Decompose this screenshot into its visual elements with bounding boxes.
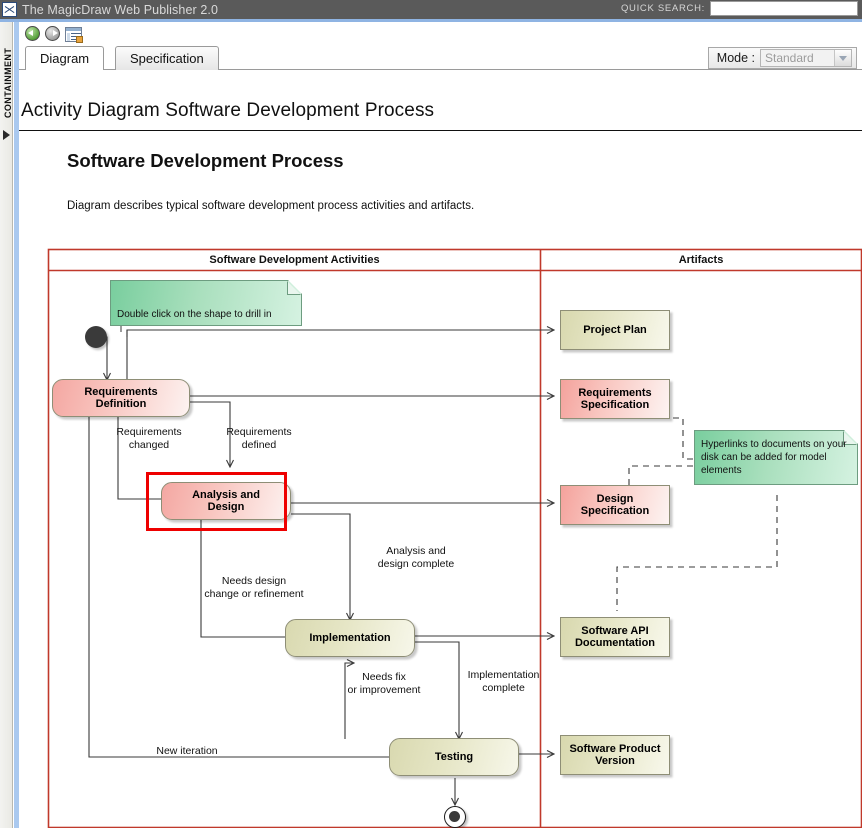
implementation-node[interactable]: Implementation	[285, 619, 415, 657]
design-specification-object[interactable]: Design Specification	[560, 485, 670, 525]
navigation-toolbar	[19, 22, 862, 46]
tab-diagram-label: Diagram	[40, 51, 89, 66]
containment-label: CONTAINMENT	[0, 22, 13, 142]
software-api-documentation-label: Software API Documentation	[575, 625, 655, 650]
mode-control: Mode : Standard	[708, 47, 857, 69]
triangle-right-icon[interactable]	[3, 130, 10, 140]
software-product-version-label: Software Product Version	[569, 743, 660, 768]
requirements-definition-label: Requirements Definition	[84, 386, 157, 411]
page-title-rule	[19, 130, 862, 131]
edge-label-implementation-complete: Implementation complete	[441, 669, 566, 694]
implementation-label: Implementation	[309, 632, 390, 645]
edge-label-needs-design-change: Needs design change or refinement	[174, 575, 334, 600]
project-plan-label: Project Plan	[583, 324, 647, 337]
lane-header-artifacts: Artifacts	[541, 254, 861, 266]
mode-select[interactable]: Standard	[760, 49, 852, 67]
tab-specification[interactable]: Specification	[115, 46, 219, 70]
window-title-bar: The MagicDraw Web Publisher 2.0 QUICK SE…	[0, 0, 862, 19]
edge-label-requirements-defined: Requirements defined	[199, 426, 319, 451]
testing-node[interactable]: Testing	[389, 738, 519, 776]
document-description: Diagram describes typical software devel…	[67, 200, 474, 212]
content-pane: Diagram Specification Mode : Standard Ac…	[19, 22, 862, 828]
software-product-version-object[interactable]: Software Product Version	[560, 735, 670, 775]
edge-label-requirements-changed: Requirements changed	[89, 426, 209, 451]
design-specification-label: Design Specification	[581, 493, 649, 518]
back-button[interactable]	[25, 26, 41, 42]
containment-rail[interactable]: CONTAINMENT	[0, 22, 13, 828]
quick-search-group: QUICK SEARCH:	[621, 1, 858, 16]
chevron-down-icon[interactable]	[834, 50, 851, 66]
arrow-left-circle-icon	[28, 30, 33, 36]
lane-header-activities: Software Development Activities	[49, 254, 540, 266]
quick-search-input[interactable]	[710, 1, 858, 16]
tab-diagram[interactable]: Diagram	[25, 46, 104, 70]
selection-highlight	[146, 472, 287, 531]
window-title: The MagicDraw Web Publisher 2.0	[22, 3, 218, 17]
edge-label-new-iteration: New iteration	[132, 745, 242, 758]
edge-label-needs-fix: Needs fix or improvement	[319, 671, 449, 696]
requirements-specification-object[interactable]: Requirements Specification	[560, 379, 670, 419]
forward-button[interactable]	[45, 26, 61, 42]
report-document-icon[interactable]	[65, 27, 82, 42]
magicdraw-logo-icon	[2, 2, 17, 17]
project-plan-object[interactable]: Project Plan	[560, 310, 670, 350]
edge-label-analysis-design-complete: Analysis and design complete	[351, 545, 481, 570]
initial-node[interactable]	[85, 326, 107, 348]
mode-value: Standard	[765, 51, 814, 65]
mode-label: Mode :	[717, 51, 755, 65]
arrow-right-circle-icon	[53, 30, 58, 36]
hyperlinks-note-text: Hyperlinks to documents on your disk can…	[701, 438, 851, 477]
requirements-specification-label: Requirements Specification	[578, 387, 651, 412]
page-title: Activity Diagram Software Development Pr…	[19, 100, 862, 122]
requirements-definition-node[interactable]: Requirements Definition	[52, 379, 190, 417]
activity-diagram-canvas[interactable]: Software Development Activities Artifact…	[29, 227, 862, 828]
drill-in-note-text: Double click on the shape to drill in	[117, 308, 272, 321]
drill-in-note[interactable]: Double click on the shape to drill in	[110, 280, 302, 326]
tab-specification-label: Specification	[130, 51, 204, 66]
activity-final-node[interactable]	[444, 806, 466, 828]
quick-search-label: QUICK SEARCH:	[621, 3, 705, 14]
testing-label: Testing	[435, 751, 473, 764]
software-api-documentation-object[interactable]: Software API Documentation	[560, 617, 670, 657]
document-heading: Software Development Process	[67, 150, 344, 172]
hyperlinks-note[interactable]: Hyperlinks to documents on your disk can…	[694, 430, 858, 485]
